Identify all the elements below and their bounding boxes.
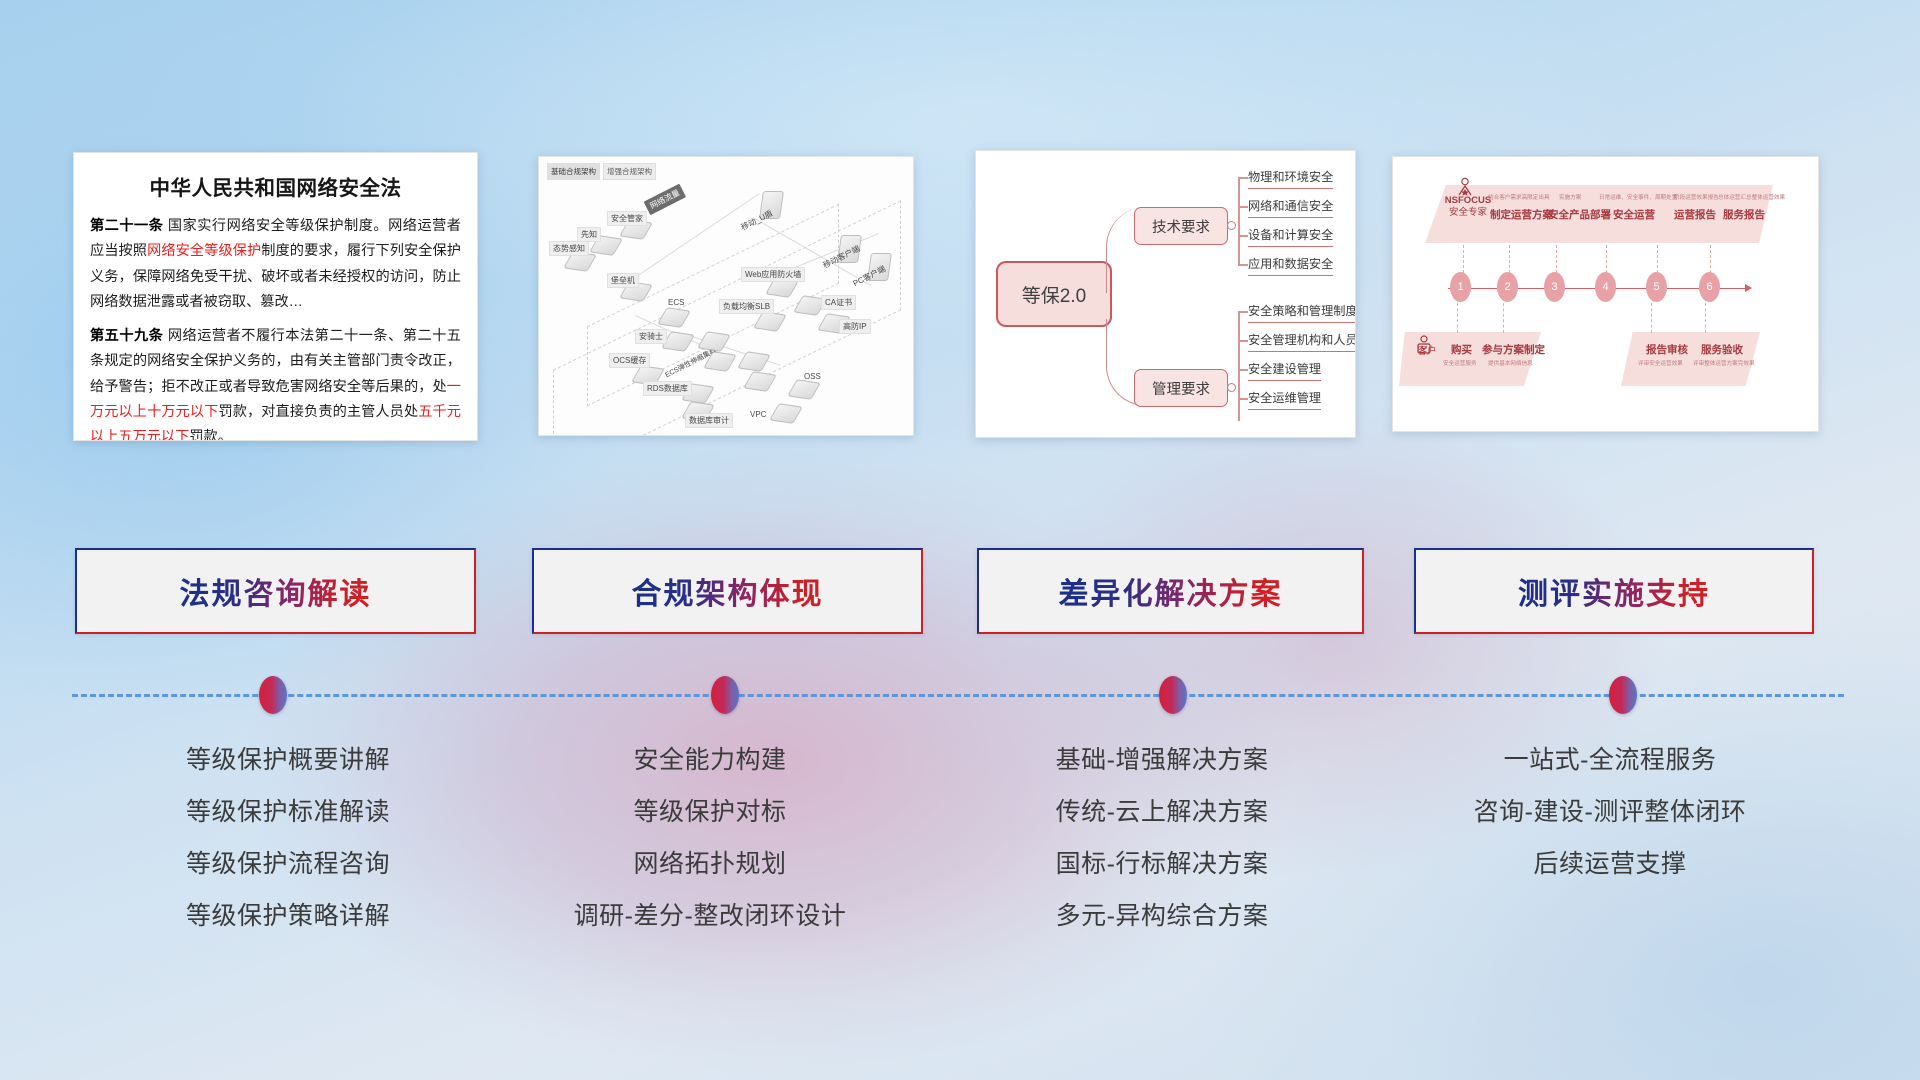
list-item: 调研-差分-整改闭环设计: [452, 904, 968, 929]
detail-column-3: 基础-增强解决方案 传统-云上解决方案 国标-行标解决方案 多元-异构综合方案: [904, 748, 1420, 956]
list-item: 安全能力构建: [452, 748, 968, 773]
list-item: 基础-增强解决方案: [904, 748, 1420, 773]
list-item: 后续运营支撑: [1352, 852, 1868, 877]
timeline-dot-4[interactable]: [1609, 676, 1637, 714]
list-item: 一站式-全流程服务: [1352, 748, 1868, 773]
detail-column-4: 一站式-全流程服务 咨询-建设-测评整体闭环 后续运营支撑: [1352, 748, 1868, 904]
list-item: 咨询-建设-测评整体闭环: [1352, 800, 1868, 825]
timeline-dashed-line: [72, 694, 1844, 697]
list-item: 国标-行标解决方案: [904, 852, 1420, 877]
list-item: 等级保护对标: [452, 800, 968, 825]
list-item: 网络拓扑规划: [452, 852, 968, 877]
list-item: 多元-异构综合方案: [904, 904, 1420, 929]
list-item: 传统-云上解决方案: [904, 800, 1420, 825]
timeline-dot-1[interactable]: [259, 676, 287, 714]
timeline-dot-2[interactable]: [711, 676, 739, 714]
detail-column-2: 安全能力构建 等级保护对标 网络拓扑规划 调研-差分-整改闭环设计: [452, 748, 968, 956]
timeline-dot-3[interactable]: [1159, 676, 1187, 714]
